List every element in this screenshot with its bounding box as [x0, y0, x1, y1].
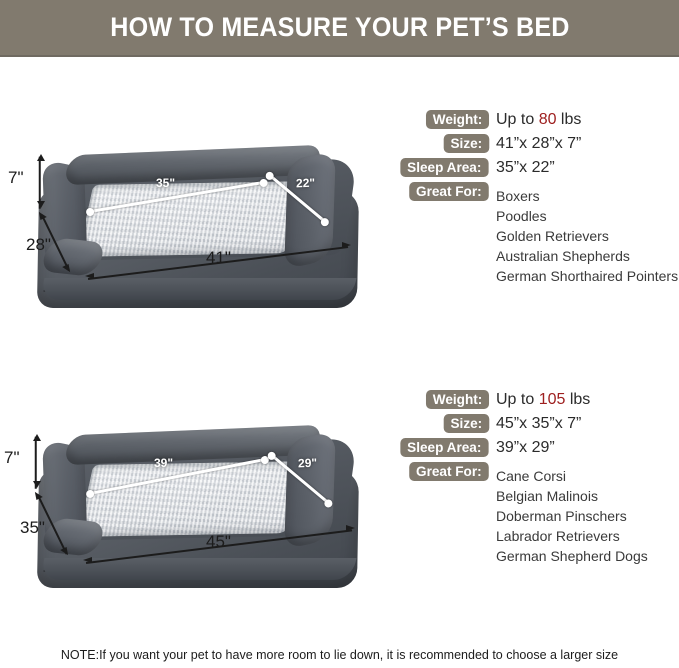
list-item: German Shepherd Dogs	[496, 546, 679, 566]
breed-list-large: Cane Corsi Belgian Malinois Doberman Pin…	[496, 466, 679, 566]
spec-label-size: Size:	[444, 414, 489, 433]
list-item: Cane Corsi	[496, 466, 679, 486]
weight-prefix: Up to	[496, 111, 539, 128]
spec-row-size: Size: 41”x 28”x 7”	[400, 134, 679, 155]
list-item: Golden Retrievers	[496, 226, 679, 246]
list-item: Australian Shepherds	[496, 246, 679, 266]
spec-table-large: Weight: Up to 105 lbs Size: 45”x 35”x 7”…	[400, 390, 679, 566]
weight-accent: 80	[539, 111, 557, 128]
sleep-width-callout-label: 22"	[296, 176, 316, 191]
spec-row-sleep-area: Sleep Area: 35”x 22”	[400, 158, 679, 179]
spec-value-sleep-area: 35”x 22”	[490, 158, 555, 178]
spec-label-size: Size:	[444, 134, 489, 153]
spec-value-sleep-area: 39”x 29”	[490, 438, 555, 458]
bed-illustration-large: 39" 29" 7" 35" 45"	[0, 390, 400, 620]
list-item: Doberman Pinschers	[496, 506, 679, 526]
width-dimension-label: 45"	[206, 532, 231, 552]
spec-label-weight: Weight:	[426, 390, 489, 409]
list-item: German Shorthaired Pointers	[496, 266, 679, 286]
spec-row-weight: Weight: Up to 80 lbs	[400, 110, 679, 131]
spec-label-cell: Sleep Area:	[400, 158, 490, 177]
product-block-small: 35" 22" 7" 28" 41" Weight:	[0, 110, 679, 350]
spec-row-size: Size: 45”x 35”x 7”	[400, 414, 679, 435]
footer-note: NOTE:If you want your pet to have more r…	[0, 648, 679, 662]
spec-label-cell: Size:	[400, 414, 490, 433]
page-title: HOW TO MEASURE YOUR PET’S BED	[110, 12, 569, 43]
height-dimension-label: 7"	[4, 448, 20, 468]
header-banner: HOW TO MEASURE YOUR PET’S BED	[0, 0, 679, 57]
bed-stage: 39" 29"	[28, 408, 368, 598]
spec-label-great-for: Great For:	[410, 182, 489, 201]
product-block-large: 39" 29" 7" 35" 45" Weight:	[0, 390, 679, 640]
bed-base-lip	[39, 278, 356, 300]
list-item: Boxers	[496, 186, 679, 206]
spec-row-weight: Weight: Up to 105 lbs	[400, 390, 679, 411]
weight-accent: 105	[539, 391, 566, 408]
width-dimension-label: 41"	[206, 248, 231, 268]
spec-row-sleep-area: Sleep Area: 39”x 29”	[400, 438, 679, 459]
sleep-width-callout-label: 29"	[298, 456, 318, 471]
spec-label-cell: Size:	[400, 134, 490, 153]
spec-value-weight: Up to 105 lbs	[490, 390, 590, 410]
height-dimension-label: 7"	[8, 168, 24, 188]
spec-label-cell: Weight:	[400, 390, 490, 409]
spec-label-great-for: Great For:	[410, 462, 489, 481]
sleep-length-callout-label: 35"	[156, 176, 175, 190]
weight-suffix: lbs	[565, 391, 590, 408]
weight-suffix: lbs	[556, 111, 581, 128]
depth-dimension-label: 28"	[26, 235, 51, 255]
list-item: Belgian Malinois	[496, 486, 679, 506]
bed-illustration-small: 35" 22" 7" 28" 41"	[0, 110, 400, 340]
spec-table-small: Weight: Up to 80 lbs Size: 41”x 28”x 7” …	[400, 110, 679, 286]
spec-value-size: 45”x 35”x 7”	[490, 414, 581, 434]
spec-label-cell: Great For:	[400, 182, 490, 201]
bed-stage: 35" 22"	[28, 128, 368, 318]
spec-label-cell: Great For:	[400, 462, 490, 481]
spec-label-sleep-area: Sleep Area:	[401, 438, 489, 457]
spec-value-weight: Up to 80 lbs	[490, 110, 581, 130]
spec-label-cell: Sleep Area:	[400, 438, 490, 457]
spec-label-cell: Weight:	[400, 110, 490, 129]
weight-prefix: Up to	[496, 391, 539, 408]
spec-value-size: 41”x 28”x 7”	[490, 134, 581, 154]
sleep-length-callout-label: 39"	[154, 456, 173, 470]
list-item: Labrador Retrievers	[496, 526, 679, 546]
spec-label-weight: Weight:	[426, 110, 489, 129]
depth-dimension-label: 35"	[20, 518, 45, 538]
list-item: Poodles	[496, 206, 679, 226]
spec-label-sleep-area: Sleep Area:	[401, 158, 489, 177]
breed-list-small: Boxers Poodles Golden Retrievers Austral…	[496, 186, 679, 286]
